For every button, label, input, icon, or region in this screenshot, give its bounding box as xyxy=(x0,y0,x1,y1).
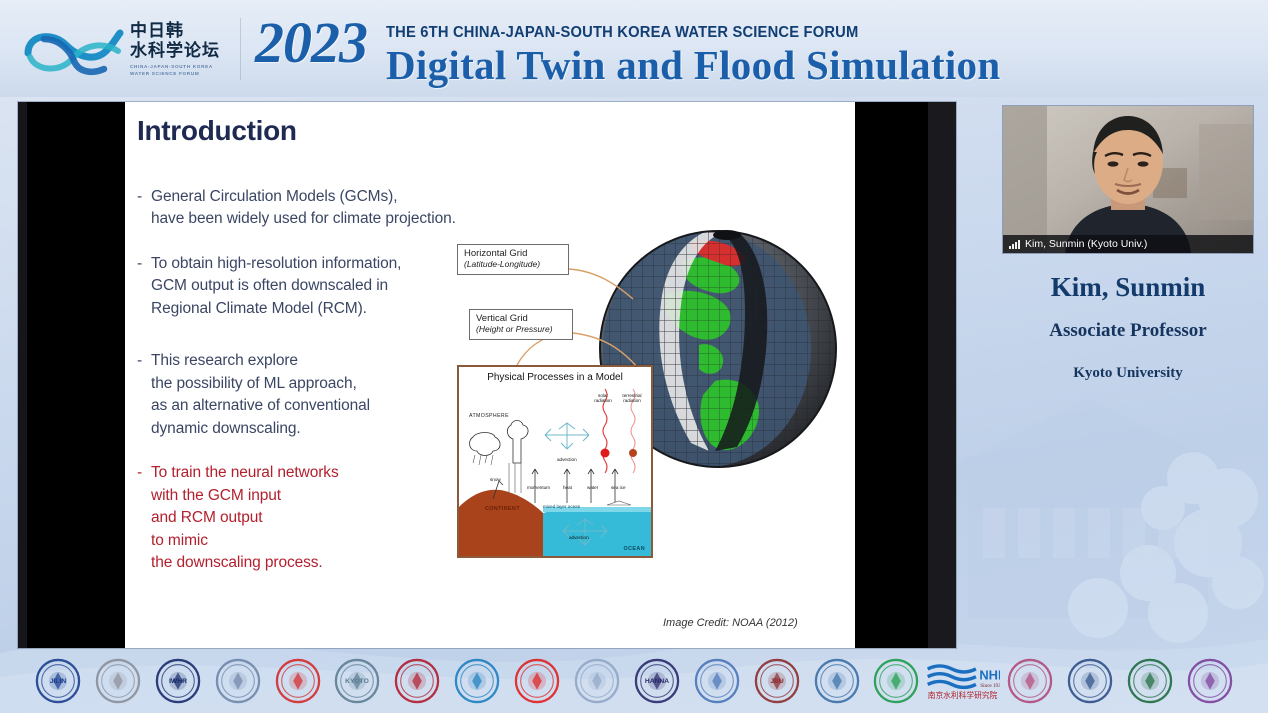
bullet-marker: - xyxy=(137,186,151,231)
logo-cn-line1: 中日韩 xyxy=(130,23,220,40)
bullet-marker: - xyxy=(137,350,151,440)
momentum-label: momentum xyxy=(527,485,550,490)
horizontal-grid-sublabel: (Latitude-Longitude) xyxy=(464,259,562,269)
sponsor-logo-peking-university xyxy=(387,658,447,704)
sponsor-logo-green-calligraphy-institute xyxy=(866,658,926,704)
logo-cn-line2: 水科学论坛 xyxy=(130,43,220,60)
chonnam-university-seal-icon xyxy=(814,658,860,704)
horizontal-grid-callout: Horizontal Grid (Latitude-Longitude) xyxy=(457,244,569,275)
svg-text:HANNA: HANNA xyxy=(645,677,669,684)
speaker-role: Associate Professor xyxy=(1003,320,1253,342)
sponsor-logo-hohai-university xyxy=(447,658,507,704)
hohai-university-seal-icon xyxy=(454,658,500,704)
sponsor-logo-kyoto-university: KYOTO xyxy=(327,658,387,704)
sponsor-logo-jeonbuk-national-university: JBU xyxy=(747,658,807,704)
university-seal-pink-seal-icon xyxy=(1007,658,1053,704)
svg-text:Since 1935: Since 1935 xyxy=(981,683,1001,689)
horizontal-grid-label: Horizontal Grid xyxy=(464,248,562,259)
bullet-item-highlighted: - To train the neural networks with the … xyxy=(137,462,467,574)
bullet-text: This research explore the possibility of… xyxy=(151,350,370,440)
signal-bars-icon xyxy=(1009,240,1020,249)
bullet-item: - This research explore the possibility … xyxy=(137,350,467,440)
sponsor-logo-university-seal-pink xyxy=(1000,658,1060,704)
svg-text:NHRI: NHRI xyxy=(980,667,1001,682)
speaker-video-label-text: Kim, Sunmin (Kyoto Univ.) xyxy=(1025,238,1147,250)
heat-label: heat xyxy=(563,485,572,490)
speaker-name: Kim, Sunmin xyxy=(1003,272,1253,303)
vertical-grid-callout: Vertical Grid (Height or Pressure) xyxy=(469,309,573,340)
stage-letterbox-right xyxy=(928,102,956,648)
peking-university-seal-icon xyxy=(394,658,440,704)
water-drop-seal-red-seal-icon xyxy=(514,658,560,704)
sponsor-logo-university-seal-green xyxy=(1120,658,1180,704)
bullet-item: - General Circulation Models (GCMs), hav… xyxy=(137,186,467,231)
presentation-screen: 中日韩 水科学论坛 CHINA-JAPAN-SOUTH KOREA WATER … xyxy=(0,0,1268,713)
terrestrial-radiation-label: terrestrial radiation xyxy=(618,393,646,403)
physical-processes-diagram: Physical Processes in a Model ATMOSPHERE… xyxy=(457,365,653,558)
university-seal-green-seal-icon xyxy=(1127,658,1173,704)
logo-sub-line2: WATER SCIENCE FORUM xyxy=(130,71,220,78)
svg-text:南京水利科学研究院: 南京水利科学研究院 xyxy=(928,690,998,700)
speaker-video-tile[interactable]: Kim, Sunmin (Kyoto Univ.) xyxy=(1003,106,1253,253)
advection-bottom-label: advection xyxy=(569,535,589,540)
svg-text:KYOTO: KYOTO xyxy=(346,677,370,684)
atmosphere-label: ATMOSPHERE xyxy=(469,413,509,419)
mixed-layer-ocean-label: mixed layer ocean xyxy=(543,504,580,509)
vertical-grid-label: Vertical Grid xyxy=(476,313,566,324)
sponsor-logo-university-seal-purple xyxy=(1180,658,1240,704)
solar-radiation-label: solar radiation xyxy=(591,393,615,403)
sponsor-logo-hannam-university: HANNA xyxy=(627,658,687,704)
forum-logo: 中日韩 水科学论坛 CHINA-JAPAN-SOUTH KOREA WATER … xyxy=(22,22,234,78)
event-kicker: THE 6TH CHINA-JAPAN-SOUTH KOREA WATER SC… xyxy=(386,24,858,42)
sea-ice-label: sea ice xyxy=(611,485,626,490)
snow-label: snow xyxy=(490,477,501,482)
header-divider xyxy=(240,18,241,80)
sponsor-logo-national-university-seal-red xyxy=(268,658,328,704)
kyoto-university-seal-icon: KYOTO xyxy=(334,658,380,704)
sponsor-logo-chungnam-national-university xyxy=(208,658,268,704)
jilin-university-seal-icon: JILIN xyxy=(35,658,81,704)
bullet-item: - To obtain high-resolution information,… xyxy=(137,253,467,320)
sponsor-logo-jilin-university: JILIN xyxy=(28,658,88,704)
slide-bullet-list: - General Circulation Models (GCMs), hav… xyxy=(137,186,467,597)
sponsor-logo-chonnam-university xyxy=(807,658,867,704)
china-university-blue-seal-icon xyxy=(694,658,740,704)
bullet-text: General Circulation Models (GCMs), have … xyxy=(151,186,456,231)
nhri-logo-icon: NHRISince 1935南京水利科学研究院 xyxy=(926,660,1000,702)
process-box-title: Physical Processes in a Model xyxy=(459,372,651,383)
university-seal-navy-seal-icon xyxy=(1067,658,1113,704)
sponsor-logo-water-drop-seal-red xyxy=(507,658,567,704)
image-credit: Image Credit: NOAA (2012) xyxy=(663,617,798,629)
sponsor-logo-strip: JILINIWHRKYOTOHANNAJBUNHRISince 1935南京水利… xyxy=(0,648,1268,713)
speaker-organization: Kyoto University xyxy=(1003,365,1253,382)
background-building-watermark xyxy=(938,358,1268,658)
speaker-webcam-image xyxy=(1003,106,1253,253)
water-label: water xyxy=(587,485,598,490)
sponsor-logo-iwhr: IWHR xyxy=(148,658,208,704)
sponsor-logo-university-seal-navy xyxy=(1060,658,1120,704)
advection-top-label: advection xyxy=(557,457,577,462)
slide-stage[interactable]: Introduction - General Circulation Model… xyxy=(18,102,956,648)
sponsor-logo-nhri: NHRISince 1935南京水利科学研究院 xyxy=(926,660,1000,702)
noaa-model-figure: Horizontal Grid (Latitude-Longitude) Ver… xyxy=(457,237,849,637)
vertical-grid-sublabel: (Height or Pressure) xyxy=(476,324,566,334)
svg-text:JILIN: JILIN xyxy=(50,677,67,684)
svg-text:JBU: JBU xyxy=(770,677,784,684)
speaker-video-label: Kim, Sunmin (Kyoto Univ.) xyxy=(1003,235,1253,253)
svg-text:IWHR: IWHR xyxy=(169,677,187,684)
event-title: Digital Twin and Flood Simulation xyxy=(386,43,1000,88)
chungnam-national-university-seal-icon xyxy=(215,658,261,704)
stage-letterbox-left xyxy=(18,102,27,648)
logo-sub-line1: CHINA-JAPAN-SOUTH KOREA xyxy=(130,64,220,71)
bullet-text: To train the neural networks with the GC… xyxy=(151,462,339,574)
bullet-marker: - xyxy=(137,253,151,320)
slide-title: Introduction xyxy=(137,115,297,147)
university-seal-purple-seal-icon xyxy=(1187,658,1233,704)
continent-label: CONTINENT xyxy=(485,506,520,512)
jeonbuk-national-university-seal-icon: JBU xyxy=(754,658,800,704)
event-header: 中日韩 水科学论坛 CHINA-JAPAN-SOUTH KOREA WATER … xyxy=(0,0,1268,97)
forum-wave-logo-icon xyxy=(22,23,126,77)
national-university-seal-red-seal-icon xyxy=(275,658,321,704)
green-calligraphy-institute-seal-icon xyxy=(873,658,919,704)
slide-surface: Introduction - General Circulation Model… xyxy=(125,102,855,648)
ocean-label: OCEAN xyxy=(624,546,645,552)
water-research-institute-seal-icon xyxy=(95,658,141,704)
university-seal-pale-seal-icon xyxy=(574,658,620,704)
sponsor-logo-water-research-institute xyxy=(88,658,148,704)
event-year: 2023 xyxy=(255,14,367,72)
sponsor-logo-university-seal-pale xyxy=(567,658,627,704)
bullet-text: To obtain high-resolution information, G… xyxy=(151,253,401,320)
bullet-marker: - xyxy=(137,462,151,574)
sponsor-logo-china-university-blue xyxy=(687,658,747,704)
iwhr-seal-icon: IWHR xyxy=(155,658,201,704)
hannam-university-seal-icon: HANNA xyxy=(634,658,680,704)
